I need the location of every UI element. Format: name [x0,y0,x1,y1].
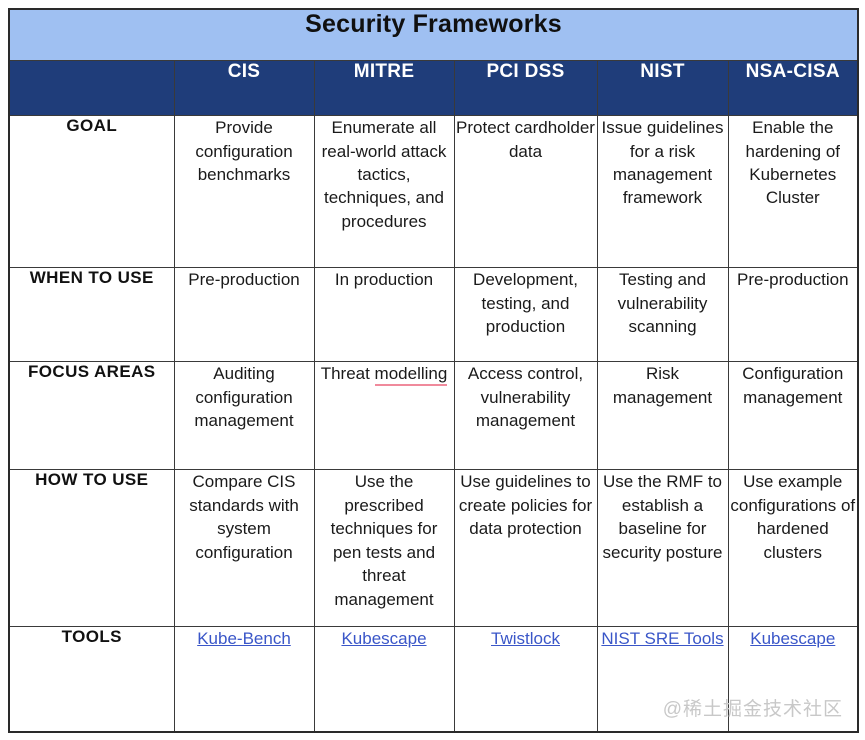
cell-focus-nist: Risk management [597,362,728,470]
table-row: TOOLS Kube-Bench Kubescape Twistlock NIS… [9,627,858,732]
misspelled-word: modelling [375,365,448,386]
cell-goal-cis: Provide configuration benchmarks [174,116,314,268]
cell-when-nsa-cisa: Pre-production [728,268,858,362]
column-header-mitre-label: MITRE [354,61,415,82]
row-label-focus-areas: FOCUS AREAS [9,362,174,470]
cell-how-pci-dss: Use guidelines to create policies for da… [454,470,597,627]
page-title: Security Frameworks [305,10,562,38]
table-row: WHEN TO USE Pre-production In production… [9,268,858,362]
table-title-cell: Security Frameworks [9,9,858,61]
cell-how-cis: Compare CIS standards with system config… [174,470,314,627]
cell-goal-mitre: Enumerate all real-world attack tactics,… [314,116,454,268]
cell-goal-pci-dss: Protect cardholder data [454,116,597,268]
cell-when-cis: Pre-production [174,268,314,362]
security-frameworks-table: Security Frameworks CIS MITRE PCI DSS NI… [8,8,859,733]
table-title-row: Security Frameworks [9,9,858,61]
table-row: FOCUS AREAS Auditing configuration manag… [9,362,858,470]
cell-when-pci-dss: Development, testing, and production [454,268,597,362]
table-row: GOAL Provide configuration benchmarks En… [9,116,858,268]
cell-tools-cis: Kube-Bench [174,627,314,732]
cell-goal-nist: Issue guidelines for a risk management f… [597,116,728,268]
row-label-when-to-use: WHEN TO USE [9,268,174,362]
column-header-cis: CIS [174,61,314,116]
tool-link-kubescape-mitre[interactable]: Kubescape [341,629,426,648]
column-header-mitre: MITRE [314,61,454,116]
cell-when-mitre: In production [314,268,454,362]
cell-focus-cis: Auditing configuration management [174,362,314,470]
cell-when-nist: Testing and vulnerability scanning [597,268,728,362]
cell-tools-mitre: Kubescape [314,627,454,732]
cell-goal-nsa-cisa: Enable the hardening of Kubernetes Clust… [728,116,858,268]
cell-focus-mitre-text: Threat [321,364,375,383]
column-header-nist-label: NIST [640,61,684,82]
column-header-nsa-cisa-label: NSA-CISA [746,61,840,82]
cell-how-nist: Use the RMF to establish a baseline for … [597,470,728,627]
column-header-pci-dss: PCI DSS [454,61,597,116]
cell-how-mitre: Use the prescribed techniques for pen te… [314,470,454,627]
cell-focus-pci-dss: Access control, vulnerability management [454,362,597,470]
cell-focus-mitre: Threat modelling [314,362,454,470]
column-header-nsa-cisa: NSA-CISA [728,61,858,116]
column-header-cis-label: CIS [228,61,261,82]
column-header-pci-dss-label: PCI DSS [486,61,564,82]
cell-tools-nist: NIST SRE Tools [597,627,728,732]
tool-link-kubescape-nsa-cisa[interactable]: Kubescape [750,629,835,648]
tool-link-kube-bench[interactable]: Kube-Bench [197,629,291,648]
tool-link-twistlock[interactable]: Twistlock [491,629,560,648]
row-label-how-to-use: HOW TO USE [9,470,174,627]
cell-focus-nsa-cisa: Configuration management [728,362,858,470]
cell-tools-nsa-cisa: Kubescape [728,627,858,732]
security-frameworks-table-container: Security Frameworks CIS MITRE PCI DSS NI… [8,8,857,733]
column-header-corner [9,61,174,116]
cell-tools-pci-dss: Twistlock [454,627,597,732]
table-row: HOW TO USE Compare CIS standards with sy… [9,470,858,627]
row-label-goal: GOAL [9,116,174,268]
tool-link-nist-sre-tools[interactable]: NIST SRE Tools [601,629,723,648]
cell-how-nsa-cisa: Use example configurations of hardened c… [728,470,858,627]
column-header-nist: NIST [597,61,728,116]
table-header-row: CIS MITRE PCI DSS NIST NSA-CISA [9,61,858,116]
row-label-tools: TOOLS [9,627,174,732]
